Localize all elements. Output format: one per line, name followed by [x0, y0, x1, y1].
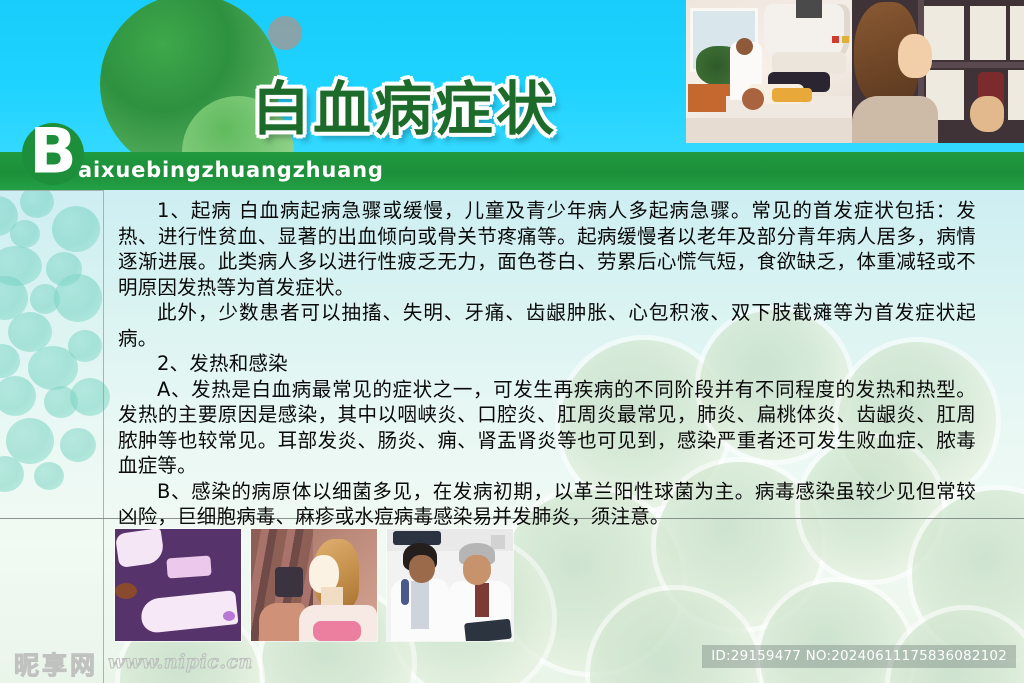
patient-photo: [250, 528, 378, 642]
poster-canvas: 白血病症状 aixuebingzhuangzhuang B: [0, 0, 1024, 683]
ct-blanket: [772, 88, 812, 102]
article-body: 1、起病 白血病起病急骤或缓慢，儿童及青少年病人多起病急骤。常见的首发症状包括：…: [118, 198, 976, 530]
ct-scan-photo: [686, 0, 852, 143]
ct-red-indicator: [832, 36, 839, 43]
blood-bank-photo: [852, 0, 1024, 143]
divider-vertical: [103, 190, 104, 683]
doctor-two-face: [463, 555, 491, 585]
stethoscope-icon: [401, 579, 409, 605]
article-paragraph: 2、发热和感染: [118, 351, 976, 377]
ct-patient-head: [742, 88, 764, 110]
ct-floor: [686, 118, 852, 143]
lab-woman-body: [852, 96, 938, 143]
decorative-gray-circle: [268, 16, 302, 50]
lab-shelf-item: [1008, 70, 1024, 120]
b-initial-letter: B: [29, 121, 76, 183]
page-title: 白血病症状: [252, 62, 557, 146]
patient-equipment: [275, 567, 303, 597]
ct-scanner-base: [772, 52, 846, 74]
ct-doctor-head: [736, 38, 753, 55]
ct-yellow-indicator: [842, 36, 849, 43]
lab-hand: [970, 96, 1004, 132]
patient-clothing: [313, 621, 361, 641]
clipboard-icon: [464, 619, 512, 642]
image-id-badge: ID:29159477 NO:20240611175836082102: [702, 645, 1016, 668]
article-paragraph: A、发热是白血病最常见的症状之一，可发生再疾病的不同阶段并有不同程度的发热和热型…: [118, 377, 976, 479]
cell-shape: [70, 378, 110, 416]
watermark-logo: 昵享网: [14, 646, 98, 682]
lab-shelf-item: [1010, 6, 1024, 60]
article-paragraph: B、感染的病原体以细菌多见，在发病初期，以革兰阳性球菌为主。病毒感染虽较少见但常…: [118, 479, 976, 530]
pinyin-subtitle: aixuebingzhuangzhuang: [78, 158, 384, 182]
poster-body: 1、起病 白血病起病急骤或缓慢，儿童及青少年病人多起病急骤。常见的首发症状包括：…: [0, 190, 1024, 683]
poster-header: 白血病症状 aixuebingzhuangzhuang B: [0, 0, 1024, 190]
doctor-two-tie: [475, 583, 489, 617]
cell-shape: [0, 344, 20, 378]
cell-shape: [60, 428, 96, 462]
cell-shape: [52, 206, 100, 252]
divider-top-left: [0, 190, 103, 191]
cell-shape: [54, 274, 102, 322]
lab-shelf-item: [970, 6, 1006, 60]
slide-cell-b: [166, 555, 211, 578]
b-initial-badge: B: [22, 123, 84, 185]
lab-woman-face: [898, 34, 932, 78]
slide-cell-d: [115, 583, 137, 599]
cell-shape: [20, 190, 54, 218]
article-paragraph: 此外，少数患者可以抽搐、失明、牙痛、齿龈肿胀、心包积液、双下肢截瘫等为首发症状起…: [118, 300, 976, 351]
cell-shape: [68, 330, 102, 362]
ct-monitor: [796, 0, 822, 18]
doctor-one-face: [409, 555, 435, 583]
doctors-wallbox: [491, 535, 505, 549]
cell-shape: [10, 220, 40, 248]
microscope-slide-photo: [114, 528, 242, 642]
patient-neck: [321, 587, 343, 607]
doctor-one-shirt: [411, 581, 429, 629]
lab-shelf-rail: [918, 62, 1024, 68]
cell-shape: [0, 376, 36, 416]
watermark-url: www.nipic.cn: [108, 651, 253, 673]
cell-shape: [34, 462, 64, 490]
slide-cell-e: [223, 611, 235, 621]
article-paragraph: 1、起病 白血病起病急骤或缓慢，儿童及青少年病人多起病急骤。常见的首发症状包括：…: [118, 198, 976, 300]
doctors-photo: [386, 528, 514, 642]
